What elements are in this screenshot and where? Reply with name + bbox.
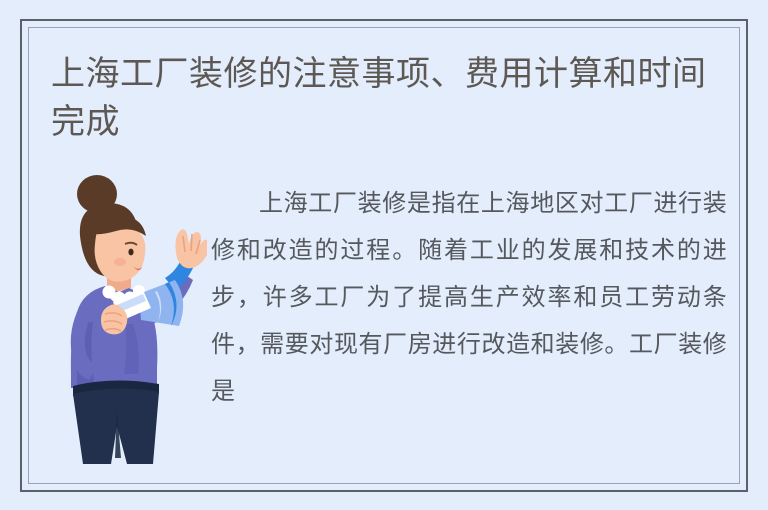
page-title: 上海工厂装修的注意事项、费用计算和时间完成: [51, 50, 723, 146]
article-paragraph: 上海工厂装修是指在上海地区对工厂进行装修和改造的过程。随着工业的发展和技术的进步…: [211, 180, 727, 415]
illustration-svg: [47, 174, 207, 486]
blush-shape: [114, 258, 126, 266]
article-inner-frame: 上海工厂装修的注意事项、费用计算和时间完成: [28, 27, 740, 484]
eye-shape: [128, 249, 133, 256]
woman-with-megaphone-illustration: [47, 174, 207, 486]
article-card: 上海工厂装修的注意事项、费用计算和时间完成: [20, 19, 748, 492]
article-body-row: 上海工厂装修是指在上海地区对工厂进行装修和改造的过程。随着工业的发展和技术的进步…: [29, 174, 739, 483]
